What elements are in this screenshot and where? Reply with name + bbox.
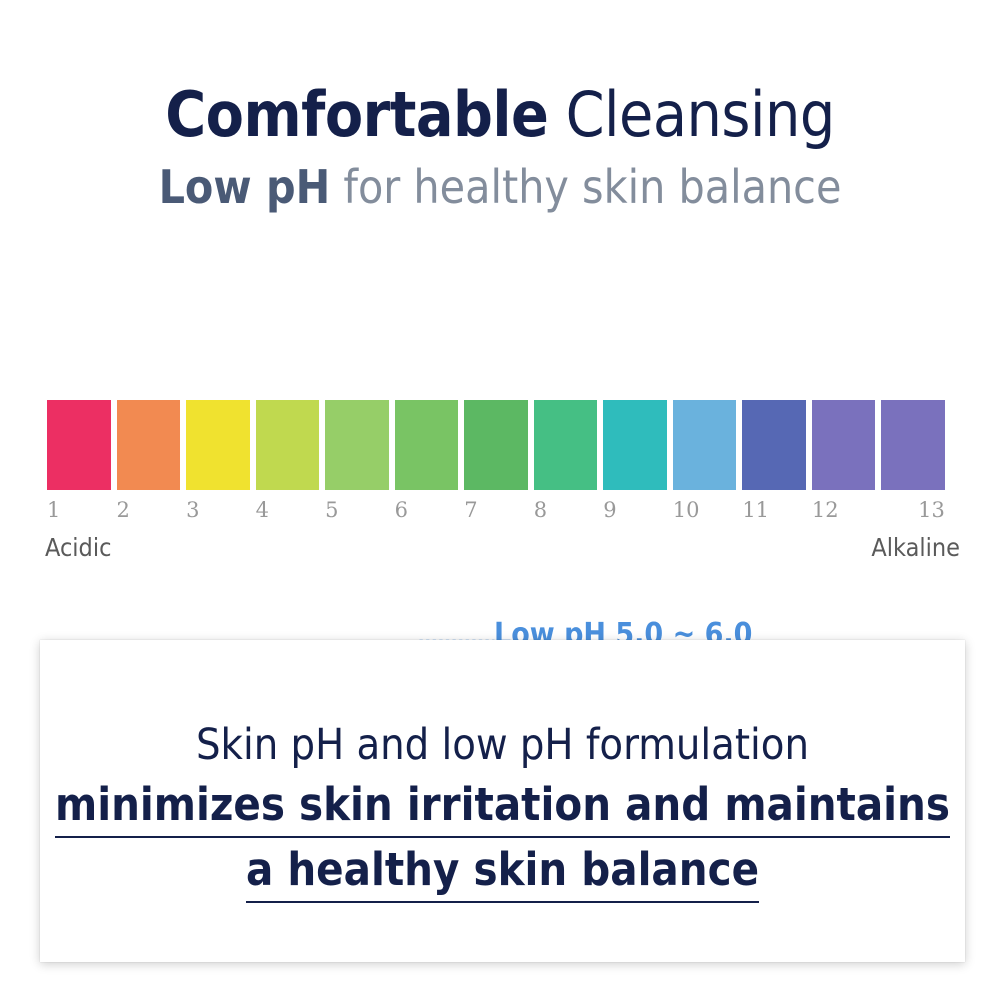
page-subtitle-strong: Low pH: [159, 160, 331, 214]
ph-number-12: 12: [812, 496, 876, 524]
statement-line-2: minimizes skin irritation and maintains: [40, 777, 965, 838]
statement-line-2-text: minimizes skin irritation and maintains: [55, 777, 950, 838]
statement-card-content: Skin pH and low pH formulation minimizes…: [40, 640, 965, 903]
header: Comfortable Cleansing Low pH for healthy…: [0, 78, 1000, 216]
ph-swatch-5: [325, 400, 389, 490]
ph-swatch-8: [534, 400, 598, 490]
ph-number-4: 4: [256, 496, 320, 524]
ph-number-3: 3: [186, 496, 250, 524]
pH-infographic-page: Comfortable Cleansing Low pH for healthy…: [0, 0, 1000, 1000]
ph-swatch-13: [881, 400, 945, 490]
ph-swatch-3: [186, 400, 250, 490]
ph-swatch-2: [117, 400, 181, 490]
ph-callout: Low pH 5.0 ~ 6.0: [0, 300, 1000, 410]
ph-number-13: 13: [881, 496, 945, 524]
ph-number-2: 2: [117, 496, 181, 524]
ph-number-7: 7: [464, 496, 528, 524]
ph-number-6: 6: [395, 496, 459, 524]
ph-swatch-6: [395, 400, 459, 490]
ph-swatch-7: [464, 400, 528, 490]
ph-swatch-9: [603, 400, 667, 490]
ph-swatch-4: [256, 400, 320, 490]
ph-swatch-11: [742, 400, 806, 490]
ph-number-8: 8: [534, 496, 598, 524]
statement-line-1: Skin pH and low pH formulation: [40, 718, 965, 773]
ph-scale-swatches: [47, 400, 945, 490]
ph-swatch-10: [673, 400, 737, 490]
statement-card: Skin pH and low pH formulation minimizes…: [40, 640, 965, 962]
scale-end-label-acidic: Acidic: [45, 533, 111, 562]
ph-scale-numbers: 12345678910111213: [47, 496, 945, 524]
ph-swatch-12: [812, 400, 876, 490]
ph-number-1: 1: [47, 496, 111, 524]
page-subtitle: Low pH for healthy skin balance: [0, 158, 1000, 216]
page-title-light: Cleansing: [548, 78, 834, 151]
scale-end-label-alkaline: Alkaline: [871, 533, 960, 562]
statement-line-3-text: a healthy skin balance: [246, 842, 759, 903]
page-title: Comfortable Cleansing: [0, 78, 1000, 152]
ph-number-10: 10: [673, 496, 737, 524]
ph-number-11: 11: [742, 496, 806, 524]
ph-swatch-1: [47, 400, 111, 490]
page-title-strong: Comfortable: [165, 78, 548, 151]
ph-number-9: 9: [603, 496, 667, 524]
ph-number-5: 5: [325, 496, 389, 524]
page-subtitle-light: for healthy skin balance: [330, 160, 841, 214]
statement-line-3: a healthy skin balance: [40, 842, 965, 903]
